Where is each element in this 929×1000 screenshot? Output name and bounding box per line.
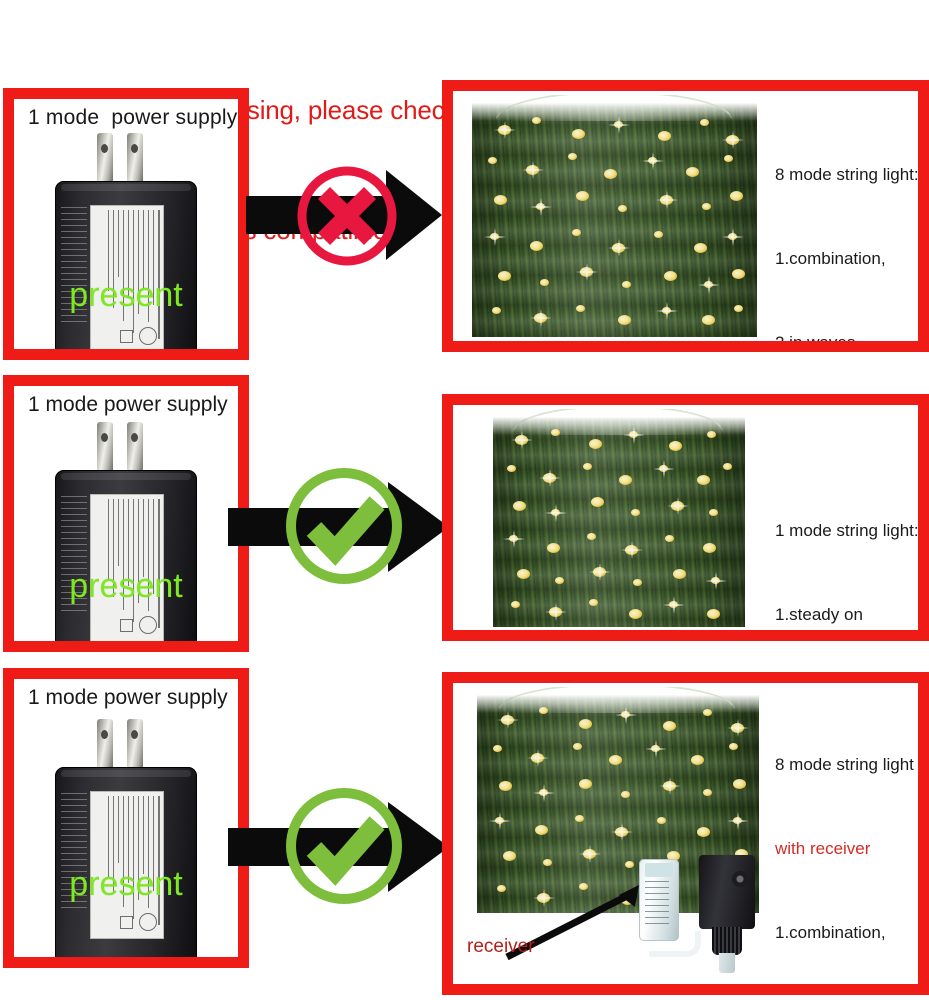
adapter-prong-left xyxy=(97,422,113,470)
receiver-callout-label: receiver xyxy=(467,936,535,958)
ac-power-adapter-row-3 xyxy=(51,719,201,957)
compliance-mark-icon xyxy=(120,330,133,343)
string-light-panel-row-2: 1 mode string light: 1.steady on 2 off xyxy=(442,394,929,641)
fairy-light-coil-row-2 xyxy=(493,409,745,627)
plug-print-icon xyxy=(732,871,748,887)
plug-pin xyxy=(719,953,735,973)
present-badge-row-2: present xyxy=(69,569,182,603)
adapter-prong-left xyxy=(97,133,113,181)
check-mark-icon-row-3 xyxy=(281,783,407,909)
led-cluster xyxy=(472,95,757,337)
compliance-mark-icon xyxy=(120,619,133,632)
fairy-light-coil-row-1 xyxy=(472,95,757,337)
power-supply-label-row-3: 1 mode power supply xyxy=(28,686,228,710)
mode-item: 1.combination, xyxy=(775,919,914,947)
ul-certification-icon xyxy=(139,913,157,931)
adapter-prongs xyxy=(51,719,201,767)
adapter-prong-right xyxy=(127,133,143,181)
power-supply-label-row-1: 1 mode power supply xyxy=(28,106,237,130)
adapter-prongs xyxy=(51,422,201,470)
power-supply-label-row-2: 1 mode power supply xyxy=(28,393,228,417)
present-badge-row-1: present xyxy=(69,278,182,312)
adapter-body xyxy=(55,767,197,957)
string-light-panel-row-3: 8 mode string light with receiver 1.comb… xyxy=(442,672,929,995)
mode-list-heading-note: with receiver xyxy=(775,835,914,863)
mode-list-row-2: 1 mode string light: 1.steady on 2 off xyxy=(775,461,918,630)
dc-plug-adapter xyxy=(699,855,755,929)
adapter-body xyxy=(55,181,197,349)
string-light-panel-row-1: 8 mode string light: 1.combination, 2.in… xyxy=(442,80,929,352)
plug-ribbed-collar xyxy=(712,927,742,955)
led-cluster xyxy=(493,409,745,627)
mode-list-heading: 8 mode string light: xyxy=(775,161,918,189)
ac-power-adapter-row-1 xyxy=(51,133,201,349)
ul-certification-icon xyxy=(139,616,157,634)
mode-list-row-1: 8 mode string light: 1.combination, 2.in… xyxy=(775,105,918,341)
adapter-prong-left xyxy=(97,719,113,767)
present-badge-row-3: present xyxy=(69,867,182,901)
mode-item: 2.in waves, xyxy=(775,329,918,341)
mode-item: 1.combination, xyxy=(775,245,918,273)
ul-certification-icon xyxy=(139,327,157,345)
cross-mark-icon-row-1 xyxy=(293,162,401,270)
power-supply-panel-row-2: 1 mode power supply xyxy=(3,375,249,652)
compliance-mark-icon xyxy=(120,916,133,929)
adapter-body xyxy=(55,470,197,641)
power-supply-panel-row-1: 1 mode power supply xyxy=(3,88,249,360)
mode-item: 1.steady on xyxy=(775,601,918,629)
ac-power-adapter-row-2 xyxy=(51,422,201,641)
mode-list-heading: 8 mode string light xyxy=(775,751,914,779)
infographic-canvas: Note: Before purchasing, please check yo… xyxy=(0,0,929,1000)
mode-list-heading: 1 mode string light: xyxy=(775,517,918,545)
check-mark-icon-row-2 xyxy=(281,463,407,589)
adapter-prong-right xyxy=(127,719,143,767)
adapter-prong-right xyxy=(127,422,143,470)
power-supply-panel-row-3: 1 mode power supply xyxy=(3,668,249,968)
adapter-prongs xyxy=(51,133,201,181)
mode-list-row-3: 8 mode string light with receiver 1.comb… xyxy=(775,695,914,984)
